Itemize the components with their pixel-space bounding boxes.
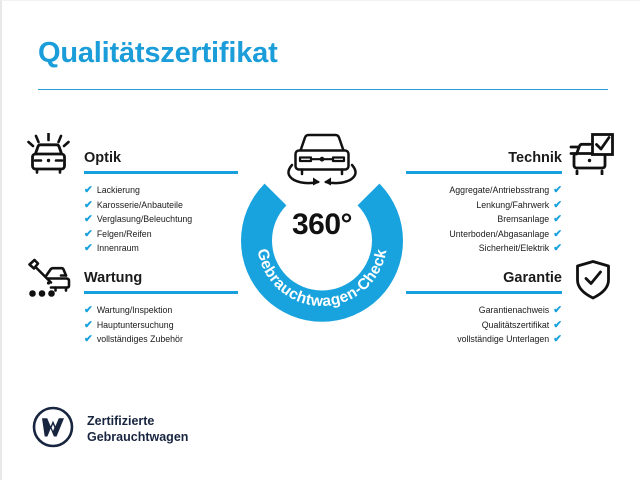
page-title: Qualitätszertifikat (38, 37, 278, 70)
list-item: vollständige Unterlagen ✔ (406, 332, 562, 347)
list-item: ✔ Verglasung/Beleuchtung (84, 212, 238, 227)
check-icon: ✔ (553, 305, 562, 316)
title-divider (38, 89, 608, 90)
list-item: Sicherheit/Elektrik ✔ (406, 241, 562, 256)
list-item-label: Wartung/Inspektion (97, 303, 172, 318)
list-item: ✔ Wartung/Inspektion (84, 303, 238, 318)
check-icon: ✔ (84, 214, 93, 225)
list-item: ✔ Lackierung (84, 183, 238, 198)
section-divider (84, 171, 238, 174)
list-item: Lenkung/Fahrwerk ✔ (406, 198, 562, 213)
section-header: Optik (84, 149, 238, 175)
list-item-label: Bremsanlage (497, 212, 549, 227)
car-rotate-icon (280, 125, 364, 187)
list-item: Garantienachweis ✔ (406, 303, 562, 318)
car-wrench-icon (26, 258, 72, 305)
section-optik: Optik ✔ Lackierung ✔ Karosserie/Anbautei… (84, 149, 238, 272)
list-item-label: vollständiges Zubehör (97, 332, 183, 347)
check-icon: ✔ (553, 320, 562, 331)
check-icon: ✔ (553, 200, 562, 211)
list-item-label: Felgen/Reifen (97, 227, 152, 242)
brand-line-1: Zertifizierte (87, 414, 154, 428)
list-item-label: Sicherheit/Elektrik (479, 241, 549, 256)
section-title: Technik (406, 149, 562, 167)
list-item: ✔ vollständiges Zubehör (84, 332, 238, 347)
section-title: Garantie (406, 269, 562, 287)
list-item: Bremsanlage ✔ (406, 212, 562, 227)
list-item: ✔ Karosserie/Anbauteile (84, 198, 238, 213)
check-icon: ✔ (553, 229, 562, 240)
list-item-label: Innenraum (97, 241, 139, 256)
shield-check-icon (574, 259, 612, 306)
checklist: Aggregate/Antriebsstrang ✔ Lenkung/Fahrw… (406, 183, 562, 256)
section-divider (406, 291, 562, 294)
list-item-label: Garantienachweis (479, 303, 549, 318)
check-icon: ✔ (84, 185, 93, 196)
vw-logo (32, 406, 74, 453)
list-item-label: Qualitätszertifikat (482, 318, 549, 333)
check-icon: ✔ (84, 200, 93, 211)
list-item: ✔ Hauptuntersuchung (84, 318, 238, 333)
list-item-label: Unterboden/Abgasanlage (449, 227, 549, 242)
check-icon: ✔ (84, 320, 93, 331)
section-header: Technik (406, 149, 562, 175)
list-item-label: Karosserie/Anbauteile (97, 198, 183, 213)
list-item: Unterboden/Abgasanlage ✔ (406, 227, 562, 242)
list-item-label: Hauptuntersuchung (97, 318, 174, 333)
check-icon: ✔ (84, 243, 93, 254)
list-item-label: Lackierung (97, 183, 140, 198)
list-item: ✔ Felgen/Reifen (84, 227, 238, 242)
section-wartung: Wartung ✔ Wartung/Inspektion ✔ Hauptunte… (84, 269, 238, 363)
list-item-label: Verglasung/Beleuchtung (97, 212, 192, 227)
checklist: ✔ Wartung/Inspektion ✔ Hauptuntersuchung… (84, 303, 238, 347)
check-icon: ✔ (553, 214, 562, 225)
checklist: Garantienachweis ✔ Qualitätszertifikat ✔… (406, 303, 562, 347)
list-item-label: Lenkung/Fahrwerk (476, 198, 549, 213)
footer-brand: ZertifizierteGebrauchtwagen (32, 406, 188, 453)
certificate-page: Qualitätszertifikat (0, 0, 640, 480)
check-icon: ✔ (553, 243, 562, 254)
list-item: ✔ Innenraum (84, 241, 238, 256)
section-technik: Technik Aggregate/Antriebsstrang ✔ Lenku… (406, 149, 562, 272)
check-icon: ✔ (84, 229, 93, 240)
car-shine-icon (26, 133, 72, 180)
badge-center-label: 360° (234, 208, 410, 242)
check-icon: ✔ (553, 185, 562, 196)
check-icon: ✔ (84, 334, 93, 345)
section-header: Wartung (84, 269, 238, 295)
section-divider (406, 171, 562, 174)
checklist: ✔ Lackierung ✔ Karosserie/Anbauteile ✔ V… (84, 183, 238, 256)
car-checkbox-icon (568, 133, 614, 180)
section-title: Optik (84, 149, 238, 167)
section-divider (84, 291, 238, 294)
brand-line-2: Gebrauchtwagen (87, 430, 188, 444)
section-garantie: Garantie Garantienachweis ✔ Qualitätszer… (406, 269, 562, 363)
list-item-label: vollständige Unterlagen (457, 332, 549, 347)
section-title: Wartung (84, 269, 238, 287)
list-item: Aggregate/Antriebsstrang ✔ (406, 183, 562, 198)
list-item-label: Aggregate/Antriebsstrang (449, 183, 549, 198)
list-item: Qualitätszertifikat ✔ (406, 318, 562, 333)
brand-label: ZertifizierteGebrauchtwagen (87, 414, 188, 445)
check-icon: ✔ (84, 305, 93, 316)
check-icon: ✔ (553, 334, 562, 345)
section-header: Garantie (406, 269, 562, 295)
